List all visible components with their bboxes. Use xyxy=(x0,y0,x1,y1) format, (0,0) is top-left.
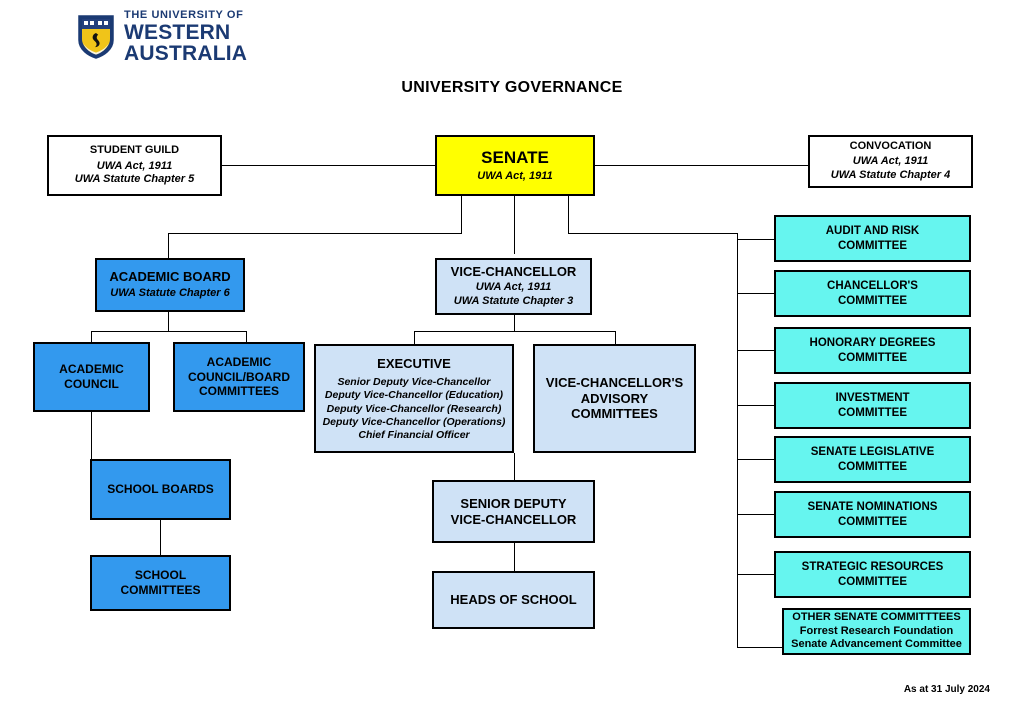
node-heads-of-school[interactable]: HEADS OF SCHOOL xyxy=(432,571,595,629)
committee-line-1: INVESTMENT xyxy=(835,391,909,405)
connector-committee-stub-8 xyxy=(737,647,782,648)
connector-academic-council-to-school-boards xyxy=(91,412,92,459)
committee-line-1: SENATE NOMINATIONS xyxy=(808,500,938,514)
connector-senate-student-guild xyxy=(222,165,435,166)
node-school-committees[interactable]: SCHOOL COMMITTEES xyxy=(90,555,231,611)
vcac-line-2: ADVISORY xyxy=(581,391,648,407)
convocation-title: CONVOCATION xyxy=(850,140,932,153)
vice-chancellor-title: VICE-CHANCELLOR xyxy=(451,264,577,279)
academic-board-sub1: UWA Statute Chapter 6 xyxy=(110,287,229,301)
connector-vc-down xyxy=(514,315,515,331)
connector-sdvc-to-heads xyxy=(514,543,515,571)
acbc-line-1: ACADEMIC xyxy=(207,355,272,370)
committee-line-2: COMMITTEE xyxy=(838,351,907,365)
committee-line-1: SENATE LEGISLATIVE xyxy=(811,445,935,459)
committee-line-2: COMMITTEE xyxy=(838,406,907,420)
connector-vc-bus xyxy=(414,331,615,332)
other-senate-committees-title: OTHER SENATE COMMITTTEES xyxy=(792,611,960,624)
connector-senate-drop-center xyxy=(514,196,515,254)
connector-committee-stub-6 xyxy=(737,514,774,515)
connector-committee-stub-7 xyxy=(737,574,774,575)
acbc-line-2: COUNCIL/BOARD xyxy=(188,370,290,385)
node-academic-council-board-committees[interactable]: ACADEMIC COUNCIL/BOARD COMMITTEES xyxy=(173,342,305,412)
school-committees-line-2: COMMITTEES xyxy=(121,583,201,598)
node-school-boards[interactable]: SCHOOL BOARDS xyxy=(90,459,231,520)
executive-member: Chief Financial Officer xyxy=(323,429,506,442)
connector-academic-board-down xyxy=(168,312,169,331)
acbc-line-3: COMMITTEES xyxy=(199,384,279,399)
vice-chancellor-sub2: UWA Statute Chapter 3 xyxy=(454,295,573,309)
executive-member: Deputy Vice-Chancellor (Research) xyxy=(323,403,506,416)
committee-line-2: COMMITTEE xyxy=(838,515,907,529)
node-vice-chancellor[interactable]: VICE-CHANCELLOR UWA Act, 1911 UWA Statut… xyxy=(435,258,592,315)
node-senate-committee-honorary-degrees[interactable]: HONORARY DEGREES COMMITTEE xyxy=(774,327,971,374)
connector-academic-board-drop xyxy=(168,233,169,258)
node-senate[interactable]: SENATE UWA Act, 1911 xyxy=(435,135,595,196)
node-academic-board[interactable]: ACADEMIC BOARD UWA Statute Chapter 6 xyxy=(95,258,245,312)
executive-member: Senior Deputy Vice-Chancellor xyxy=(323,376,506,389)
node-convocation[interactable]: CONVOCATION UWA Act, 1911 UWA Statute Ch… xyxy=(808,135,973,188)
connector-school-boards-to-committees xyxy=(160,520,161,555)
sdvc-line-1: SENIOR DEPUTY xyxy=(460,496,566,512)
connector-vc-advisory-drop xyxy=(615,331,616,344)
node-executive[interactable]: EXECUTIVE Senior Deputy Vice-Chancellor … xyxy=(314,344,514,453)
connector-committee-stub-2 xyxy=(737,293,774,294)
connector-committee-stub-1 xyxy=(737,239,774,240)
convocation-sub2: UWA Statute Chapter 4 xyxy=(831,169,950,183)
connector-academic-board-bus xyxy=(91,331,246,332)
heads-of-school-line-1: HEADS OF SCHOOL xyxy=(450,592,576,608)
node-senate-committee-senate-nominations[interactable]: SENATE NOMINATIONS COMMITTEE xyxy=(774,491,971,538)
logo-line-1: THE UNIVERSITY OF xyxy=(124,10,247,21)
logo-line-3: AUSTRALIA xyxy=(124,43,247,64)
uwa-logo-text: THE UNIVERSITY OF WESTERN AUSTRALIA xyxy=(124,10,247,64)
page-title: UNIVERSITY GOVERNANCE xyxy=(0,79,1024,97)
committee-line-1: AUDIT AND RISK xyxy=(826,224,920,238)
node-senate-committee-audit-and-risk[interactable]: AUDIT AND RISK COMMITTEE xyxy=(774,215,971,262)
node-senate-committee-chancellors[interactable]: CHANCELLOR'S COMMITTEE xyxy=(774,270,971,317)
node-vc-advisory-committees[interactable]: VICE-CHANCELLOR'S ADVISORY COMMITTEES xyxy=(533,344,696,453)
node-senior-deputy-vice-chancellor[interactable]: SENIOR DEPUTY VICE-CHANCELLOR xyxy=(432,480,595,543)
footer-date: As at 31 July 2024 xyxy=(904,684,990,695)
node-academic-council[interactable]: ACADEMIC COUNCIL xyxy=(33,342,150,412)
executive-title: EXECUTIVE xyxy=(377,356,451,371)
school-committees-line-1: SCHOOL xyxy=(135,568,186,583)
vcac-line-1: VICE-CHANCELLOR'S xyxy=(546,375,683,391)
senate-title: SENATE xyxy=(481,148,549,168)
node-other-senate-committees[interactable]: OTHER SENATE COMMITTTEES Forrest Researc… xyxy=(782,608,971,655)
committee-line-1: CHANCELLOR'S xyxy=(827,279,918,293)
node-senate-committee-senate-legislative[interactable]: SENATE LEGISLATIVE COMMITTEE xyxy=(774,436,971,483)
sdvc-line-2: VICE-CHANCELLOR xyxy=(451,512,577,528)
node-senate-committee-investment[interactable]: INVESTMENT COMMITTEE xyxy=(774,382,971,429)
senate-sub1: UWA Act, 1911 xyxy=(477,170,552,184)
connector-committee-stub-4 xyxy=(737,405,774,406)
vice-chancellor-sub1: UWA Act, 1911 xyxy=(476,281,551,295)
connector-academic-council-drop xyxy=(91,331,92,342)
connector-academic-council-committees-drop xyxy=(246,331,247,342)
student-guild-sub2: UWA Statute Chapter 5 xyxy=(75,173,194,187)
other-senate-committee-item: Senate Advancement Committee xyxy=(791,638,962,651)
connector-executive-drop xyxy=(414,331,415,344)
connector-senate-drop-right xyxy=(568,196,569,233)
other-senate-committee-item: Forrest Research Foundation xyxy=(800,625,953,638)
academic-council-line-1: ACADEMIC xyxy=(59,362,124,377)
committee-line-2: COMMITTEE xyxy=(838,575,907,589)
school-boards-line-1: SCHOOL BOARDS xyxy=(107,482,213,497)
governance-chart-page: THE UNIVERSITY OF WESTERN AUSTRALIA UNIV… xyxy=(0,0,1024,728)
executive-member: Deputy Vice-Chancellor (Education) xyxy=(323,389,506,402)
committee-line-1: STRATEGIC RESOURCES xyxy=(802,560,944,574)
logo-line-2: WESTERN xyxy=(124,22,247,43)
academic-council-line-2: COUNCIL xyxy=(64,377,119,392)
committee-line-2: COMMITTEE xyxy=(838,460,907,474)
uwa-crest-icon xyxy=(76,13,116,61)
vcac-line-3: COMMITTEES xyxy=(571,406,658,422)
connector-committee-stub-5 xyxy=(737,459,774,460)
committee-line-1: HONORARY DEGREES xyxy=(810,336,936,350)
connector-executive-to-sdvc xyxy=(514,453,515,480)
connector-senate-convocation xyxy=(595,165,808,166)
academic-board-title: ACADEMIC BOARD xyxy=(109,269,230,284)
uwa-logo: THE UNIVERSITY OF WESTERN AUSTRALIA xyxy=(76,10,247,64)
executive-member: Deputy Vice-Chancellor (Operations) xyxy=(323,416,506,429)
connector-senate-drop-left xyxy=(461,196,462,233)
node-student-guild[interactable]: STUDENT GUILD UWA Act, 1911 UWA Statute … xyxy=(47,135,222,196)
student-guild-title: STUDENT GUILD xyxy=(90,144,179,157)
node-senate-committee-strategic-resources[interactable]: STRATEGIC RESOURCES COMMITTEE xyxy=(774,551,971,598)
convocation-sub1: UWA Act, 1911 xyxy=(853,155,928,169)
executive-member-list: Senior Deputy Vice-Chancellor Deputy Vic… xyxy=(323,376,506,442)
committee-line-2: COMMITTEE xyxy=(838,294,907,308)
student-guild-sub1: UWA Act, 1911 xyxy=(97,160,172,174)
committee-line-2: COMMITTEE xyxy=(838,239,907,253)
connector-committee-spine xyxy=(737,233,738,647)
connector-bus-left xyxy=(168,233,462,234)
connector-bus-right xyxy=(568,233,738,234)
connector-committee-stub-3 xyxy=(737,350,774,351)
